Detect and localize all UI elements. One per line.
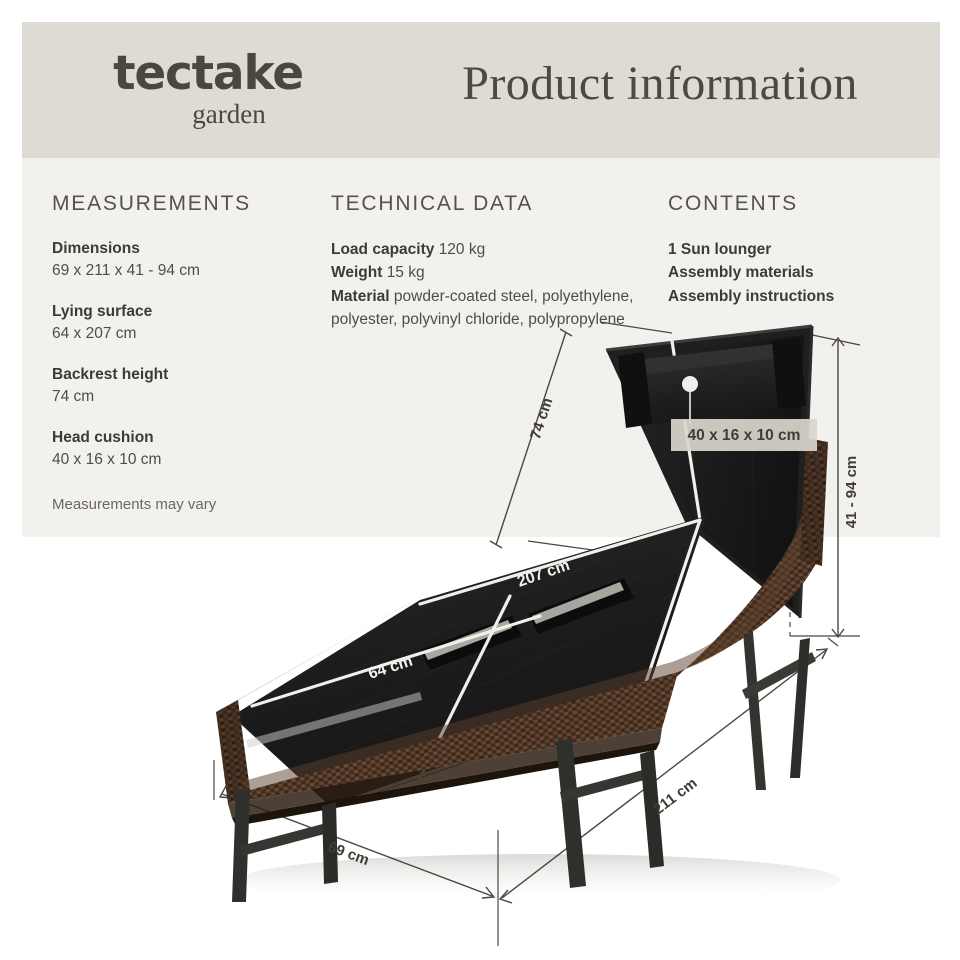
label-lying-width: 64 cm <box>366 653 414 683</box>
page-title: Product information <box>400 56 920 111</box>
measurement-group-lying-surface: Lying surface 64 x 207 cm <box>52 301 322 346</box>
surface-guide-lines <box>252 520 700 806</box>
ground-shadow <box>240 854 840 906</box>
column-technical-data: TECHNICAL DATA Load capacity 120 kg Weig… <box>331 192 651 331</box>
guide-cross-line <box>414 596 510 790</box>
technical-value: 15 kg <box>387 264 425 281</box>
guide-width-line-front <box>332 700 640 806</box>
measurements-heading: MEASUREMENTS <box>52 192 322 216</box>
contents-item: Assembly materials <box>668 261 928 284</box>
measurement-value: 40 x 16 x 10 cm <box>52 449 322 471</box>
label-width: 69 cm <box>326 839 372 870</box>
contents-item: Assembly instructions <box>668 285 928 308</box>
measurement-label: Lying surface <box>52 301 322 323</box>
dim-arrow-width-left <box>220 786 232 798</box>
dim-arrow-width-right <box>482 887 494 898</box>
measurement-group-backrest-height: Backrest height 74 cm <box>52 364 322 409</box>
dim-arrow-height-bottom <box>832 629 844 637</box>
measurement-label: Head cushion <box>52 427 322 449</box>
column-contents: CONTENTS 1 Sun lounger Assembly material… <box>668 192 928 308</box>
lounger-seat <box>232 516 706 808</box>
technical-data-heading: TECHNICAL DATA <box>331 192 651 216</box>
brand-subline: garden <box>120 101 338 128</box>
dim-arrow-length-right <box>816 649 827 659</box>
dim-line-length <box>502 650 826 898</box>
technical-row-material: Material powder-coated steel, polyethyle… <box>331 285 651 332</box>
guide-207-line <box>640 520 700 700</box>
technical-row-load-capacity: Load capacity 120 kg <box>331 238 651 261</box>
measurement-label: Backrest height <box>52 364 322 386</box>
column-measurements: MEASUREMENTS Dimensions 69 x 211 x 41 - … <box>52 192 322 513</box>
measurement-value: 74 cm <box>52 386 322 408</box>
measurement-value: 69 x 211 x 41 - 94 cm <box>52 260 322 282</box>
measurement-value: 64 x 207 cm <box>52 323 322 345</box>
ext-line-backrest-bottom <box>528 541 600 551</box>
guide-64-line <box>252 616 540 706</box>
measurements-note: Measurements may vary <box>52 496 322 513</box>
label-length: 211 cm <box>650 775 700 819</box>
contents-item: 1 Sun lounger <box>668 238 928 261</box>
dim-line-width <box>222 794 492 896</box>
dim-arrow-backrest-bottom <box>490 541 502 548</box>
inner-frame-bar <box>246 692 422 748</box>
contents-heading: CONTENTS <box>668 192 928 216</box>
dim-arrow-length-left <box>500 890 512 903</box>
product-information-sheet: tectake garden Product information MEASU… <box>0 0 960 960</box>
label-lying-length: 207 cm <box>515 557 572 591</box>
measurement-group-dimensions: Dimensions 69 x 211 x 41 - 94 cm <box>52 238 322 283</box>
ext-line-length-right <box>828 638 838 646</box>
technical-label: Material <box>331 288 390 305</box>
technical-label: Load capacity <box>331 241 434 258</box>
measurement-group-head-cushion: Head cushion 40 x 16 x 10 cm <box>52 427 322 472</box>
measurement-label: Dimensions <box>52 238 322 260</box>
brand-logo: tectake garden <box>78 50 338 128</box>
technical-value: 120 kg <box>439 241 486 258</box>
technical-row-weight: Weight 15 kg <box>331 261 651 284</box>
lounger-rear-frame <box>742 620 816 790</box>
lounger-legs <box>232 738 664 902</box>
brand-name: tectake <box>78 50 338 97</box>
technical-label: Weight <box>331 264 382 281</box>
